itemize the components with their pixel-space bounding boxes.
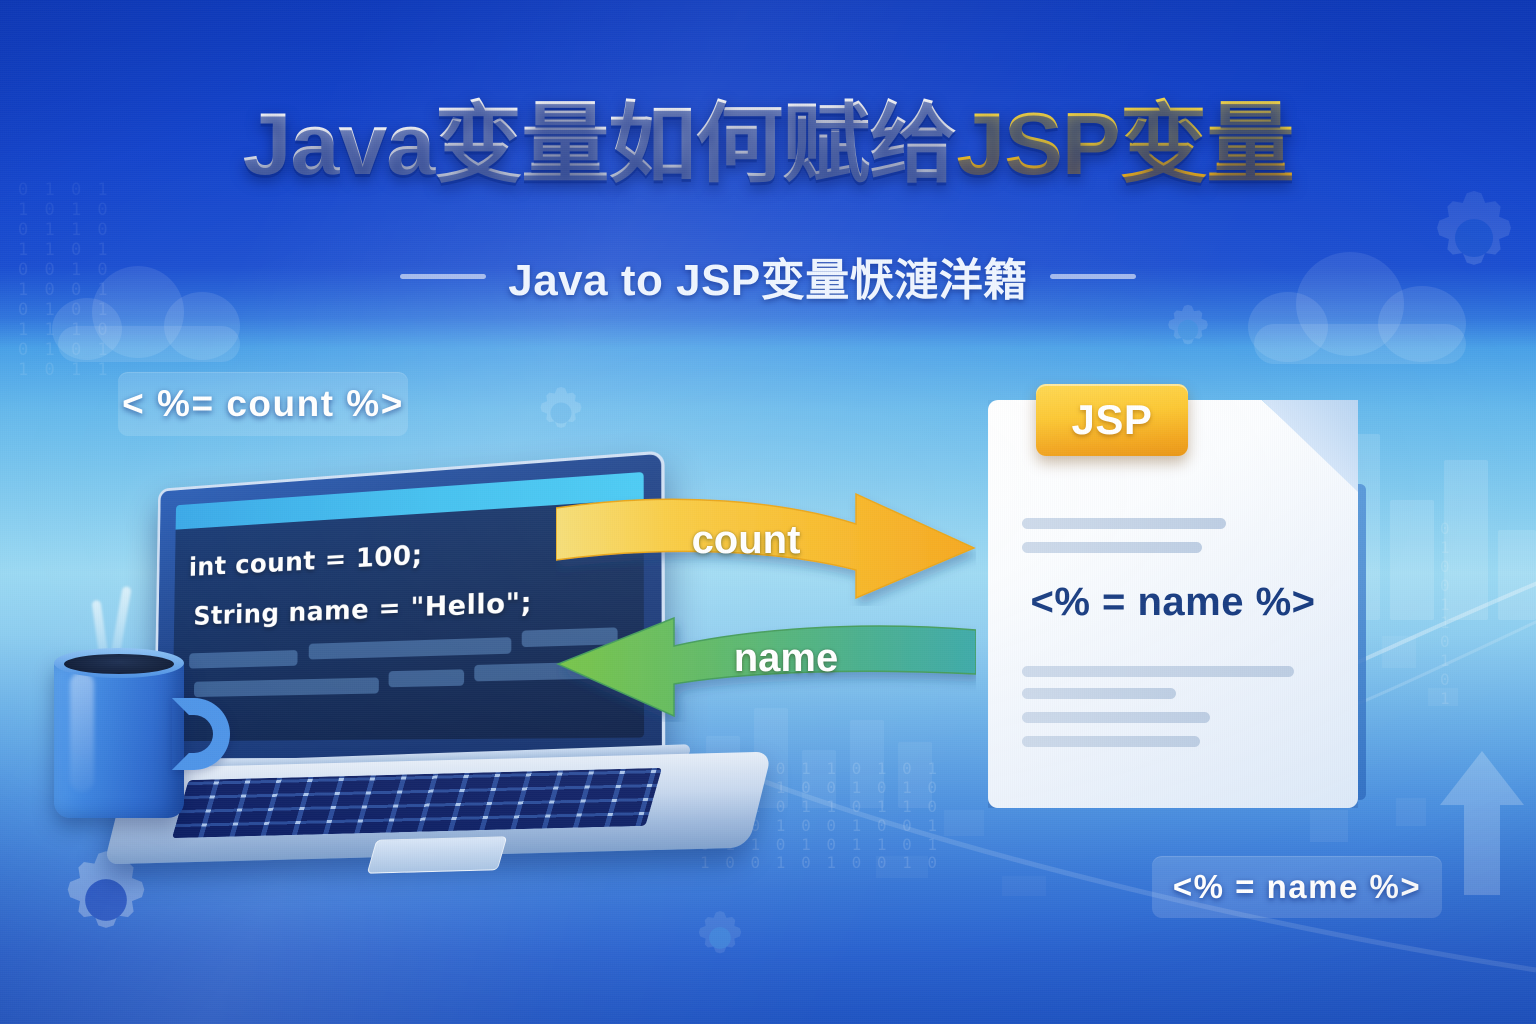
gear-icon-mid-right (1158, 300, 1218, 360)
code-placeholder-line (309, 637, 512, 659)
jsp-tab-badge: JSP (1036, 384, 1188, 456)
mug-handle (172, 698, 230, 770)
decor-square (1002, 876, 1046, 896)
subtitle-rule-right (1050, 274, 1136, 279)
page-title: Java变量如何赋给JSP变量 (0, 96, 1536, 191)
document-text-line (1022, 542, 1202, 553)
document-text-line (1022, 518, 1226, 529)
code-placeholder-line (389, 669, 465, 687)
document-page: <% = name %> (988, 400, 1358, 808)
document-text-line (1022, 712, 1210, 723)
jsp-document: <% = name %> JSP (988, 400, 1358, 808)
decor-square (1310, 810, 1348, 842)
laptop-trackpad (367, 836, 508, 873)
subtitle-rule-left (400, 274, 486, 279)
page-subtitle: Java to JSP变量恹漣洋籍 (508, 244, 1028, 308)
arrow-count: count (556, 486, 976, 606)
decor-square (1382, 636, 1416, 668)
gear-icon-lower-mid (688, 906, 752, 970)
document-code-text: <% = name %> (1012, 580, 1334, 625)
document-text-line (1022, 666, 1294, 677)
code-line-1: int count = 100; (189, 540, 423, 583)
subtitle-row: Java to JSP变量恹漣洋籍 (0, 244, 1536, 308)
trending-up-arrow-icon (1436, 748, 1528, 898)
code-line-2: String name = "Hello"; (193, 587, 532, 632)
binary-stream-right: 0 1 0 0 1 1 0 1 0 1 (1440, 520, 1453, 709)
arrow-name: name (556, 612, 976, 722)
decor-square (876, 856, 928, 878)
decor-square (1428, 688, 1458, 706)
mug-coffee-surface (64, 654, 174, 674)
decor-square (1396, 798, 1426, 826)
document-text-line (1022, 688, 1176, 699)
decor-square (944, 810, 984, 836)
code-badge-name: <% = name %> (1152, 856, 1442, 918)
poster-canvas: 0 1 0 1 1 0 1 0 0 1 1 0 1 1 0 1 0 0 1 0 … (0, 0, 1536, 1024)
code-badge-count: < %= count %> (118, 372, 408, 436)
gear-icon-mid-left (530, 382, 592, 444)
coffee-mug-illustration (44, 630, 234, 830)
mug-body (54, 658, 184, 818)
jsp-tab-label: JSP (1072, 396, 1153, 444)
title-white-part: Java变量如何赋给 (242, 94, 956, 193)
document-text-line (1022, 736, 1200, 747)
title-gold-part: JSP变量 (956, 94, 1293, 193)
